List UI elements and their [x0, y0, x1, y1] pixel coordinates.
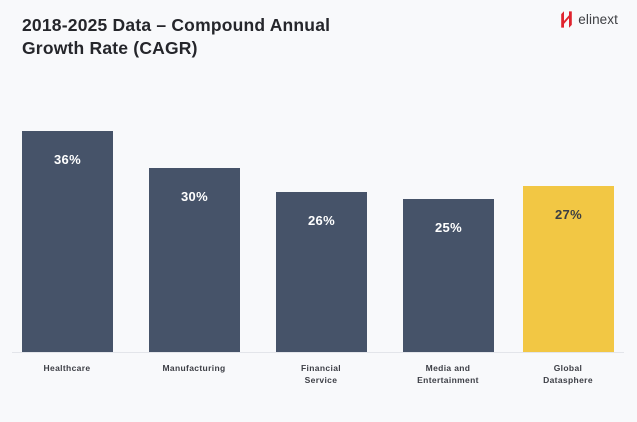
bar-chart-plot-area: 36% Healthcare 30% Manufacturing 26% Fin… [0, 0, 637, 422]
category-label-financial-service: Financial Service [266, 362, 376, 386]
bar-value-manufacturing: 30% [149, 189, 240, 204]
bar-value-financial-service: 26% [276, 213, 367, 228]
slide-canvas: 2018-2025 Data – Compound Annual Growth … [0, 0, 637, 422]
x-axis-baseline [12, 352, 624, 353]
category-label-global-datasphere: Global Datasphere [513, 362, 623, 386]
bar-value-healthcare: 36% [22, 152, 113, 167]
category-label-healthcare: Healthcare [12, 362, 122, 374]
bar-value-global-datasphere: 27% [523, 207, 614, 222]
bar-value-media-entertainment: 25% [403, 220, 494, 235]
category-label-manufacturing: Manufacturing [139, 362, 249, 374]
category-label-media-entertainment: Media and Entertainment [393, 362, 503, 386]
